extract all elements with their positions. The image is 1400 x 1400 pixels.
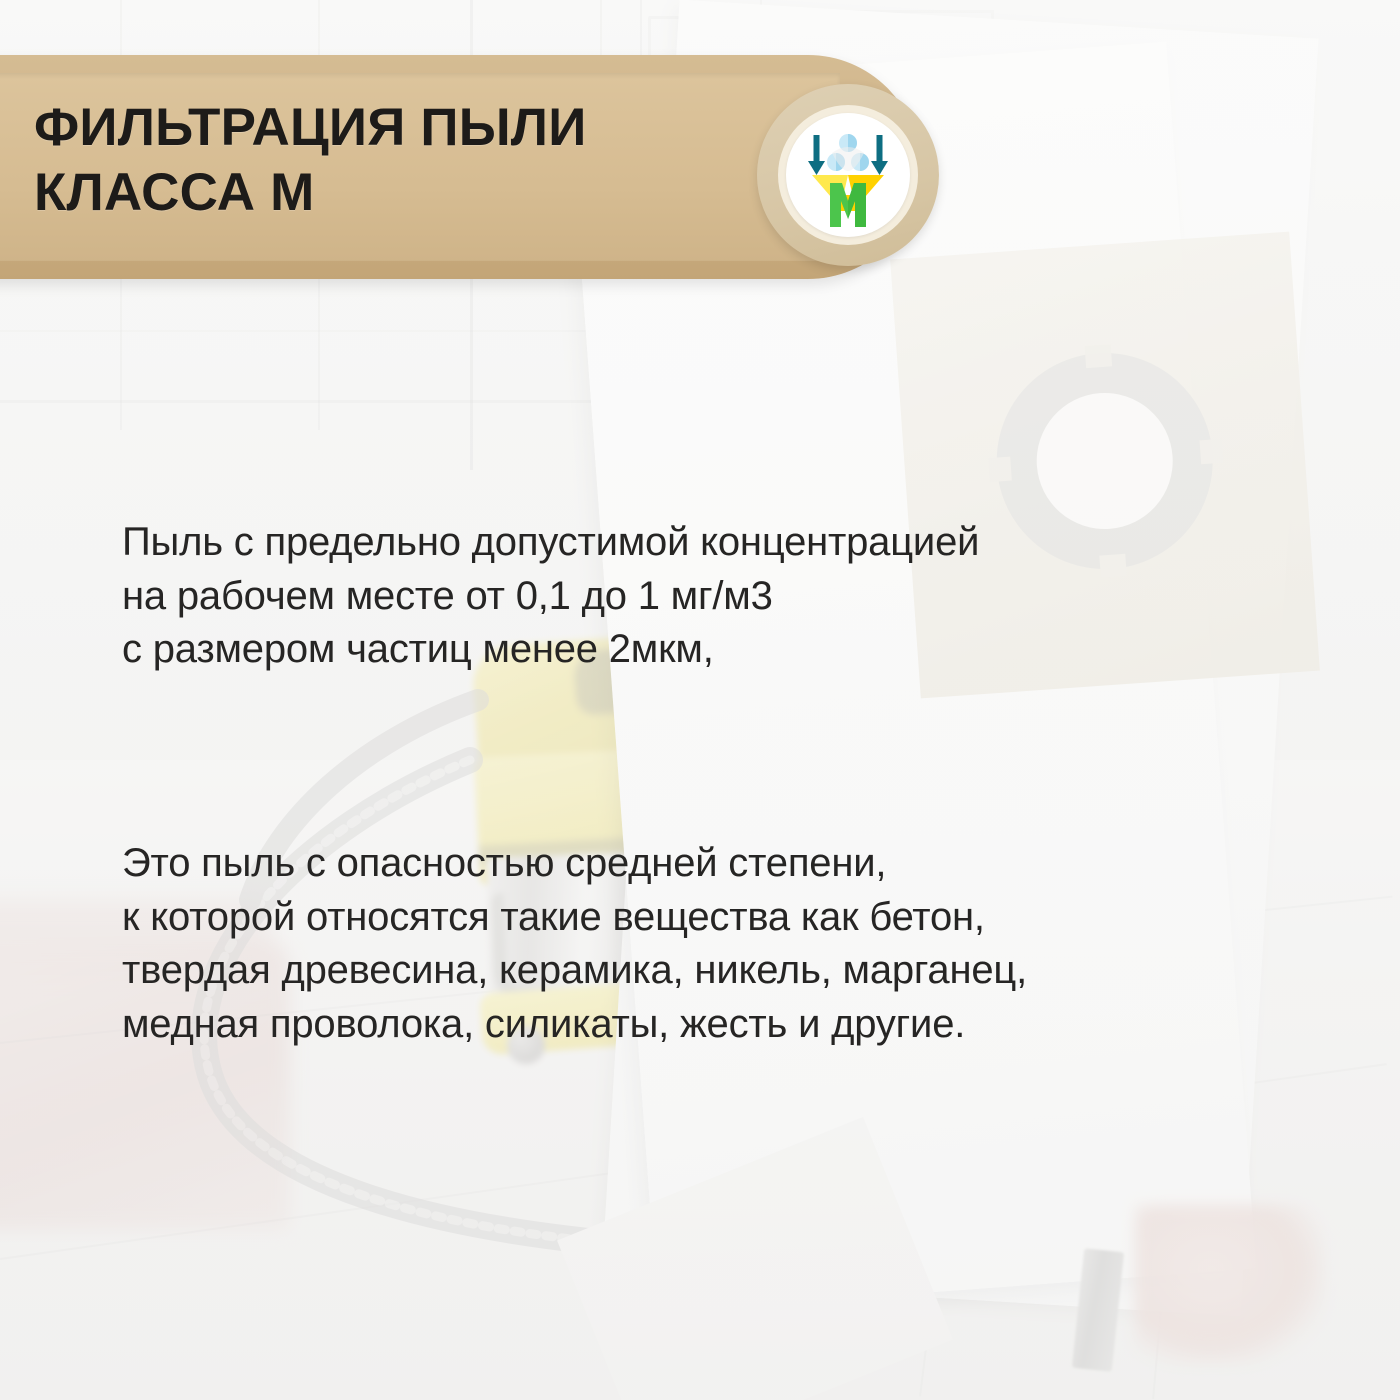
dust-filter-class-m-icon (786, 113, 910, 237)
body-paragraph-1: Пыль с предельно допустимой концентрацие… (122, 516, 1292, 677)
body-copy: Пыль с предельно допустимой концентрацие… (122, 462, 1292, 1106)
poster-canvas: ФИЛЬТРАЦИЯ ПЫЛИ КЛАССА M (0, 0, 1400, 1400)
body-paragraph-2: Это пыль с опасностью средней степени, к… (122, 837, 1292, 1052)
paragraph-spacer (122, 731, 1292, 783)
dust-particle-icon (827, 134, 869, 171)
letter-m-icon (830, 183, 866, 227)
page-title: ФИЛЬТРАЦИЯ ПЫЛИ КЛАССА M (34, 96, 734, 225)
arrow-down-icon-right (871, 135, 888, 175)
arrow-down-icon-left (808, 135, 825, 175)
